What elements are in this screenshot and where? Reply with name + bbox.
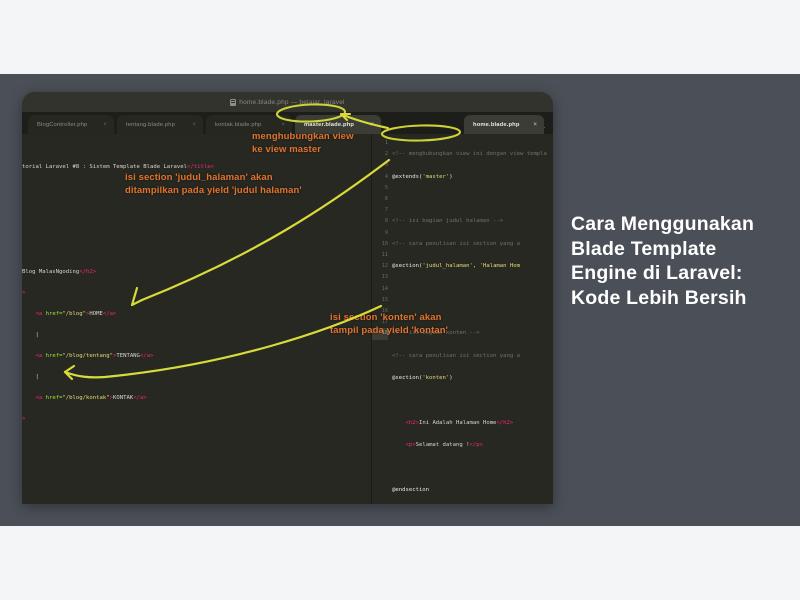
- tab-label: kontak.blade.php: [215, 122, 262, 128]
- code-line: [392, 463, 547, 474]
- code-line: [392, 194, 547, 205]
- code-line: |: [22, 372, 371, 383]
- code-line: [22, 435, 371, 446]
- code-line: <a href="/blog/tentang">TENTANG</a>: [22, 351, 371, 362]
- tab-blogcontroller[interactable]: BlogController.php ×: [28, 115, 114, 134]
- close-icon[interactable]: ×: [533, 122, 537, 128]
- code-line: [22, 246, 371, 257]
- annotation-judul-halaman: isi section 'judul_halaman' akan ditampi…: [125, 171, 302, 197]
- line-number: 4: [372, 172, 388, 183]
- code-line: [22, 204, 371, 215]
- line-number: 7: [372, 205, 388, 216]
- code-line: <a href="/blog/kontak">KONTAK</a>: [22, 393, 371, 404]
- code-line: >: [22, 288, 371, 299]
- code-line: @section('judul_halaman', 'Halaman Hom: [392, 261, 547, 272]
- code-line: Blog MalasNgoding</h2>: [22, 267, 371, 278]
- code-line: <!-- isi bagian judul halaman -->: [392, 216, 547, 227]
- tab-label: BlogController.php: [37, 122, 87, 128]
- close-icon[interactable]: ×: [103, 122, 107, 128]
- line-number: 3: [372, 160, 388, 171]
- editor-titlebar: home.blade.php — belajar_laravel: [22, 92, 553, 112]
- code-line: @extends('master'): [392, 172, 547, 183]
- close-icon[interactable]: ×: [281, 122, 285, 128]
- line-number: 15: [372, 295, 388, 306]
- code-line: [22, 456, 371, 467]
- code-line: <!-- cara penulisan isi section yang a: [392, 239, 547, 250]
- tab-label: tentang.blade.php: [126, 122, 175, 128]
- annotation-konten: isi section 'konten' akan tampil pada yi…: [330, 311, 448, 337]
- code-line: |: [22, 330, 371, 341]
- code-line: [392, 396, 547, 407]
- code-line: @section('konten'): [392, 373, 547, 384]
- code-line: [22, 498, 371, 505]
- code-line: <a href="/blog">HOME</a>: [22, 309, 371, 320]
- line-number: 2: [372, 149, 388, 160]
- code-line: [392, 284, 547, 295]
- file-icon: [230, 99, 236, 106]
- page-title: Cara Menggunakan Blade Template Engine d…: [571, 212, 771, 310]
- editor-window-title: home.blade.php — belajar_laravel: [239, 99, 344, 106]
- line-number: 6: [372, 194, 388, 205]
- screenshot-root: home.blade.php — belajar_laravel BlogCon…: [0, 0, 800, 600]
- code-line: <p>Selamat datang !</p>: [392, 440, 547, 451]
- line-number: 1: [372, 138, 388, 149]
- line-number: 14: [372, 284, 388, 295]
- tab-tentang-blade[interactable]: tentang.blade.php ×: [117, 115, 203, 134]
- code-line: <!-- cara penulisan isi section yang a: [392, 351, 547, 362]
- tab-label: home.blade.php: [473, 122, 520, 128]
- code-line: [22, 477, 371, 488]
- code-line: >: [22, 414, 371, 425]
- line-number: 9: [372, 228, 388, 239]
- line-number: 10: [372, 239, 388, 250]
- tab-home-blade[interactable]: home.blade.php ×: [464, 115, 544, 134]
- line-number: 12: [372, 261, 388, 272]
- line-number: 13: [372, 272, 388, 283]
- code-line: <h2>Ini Adalah Halaman Home</h2>: [392, 418, 547, 429]
- close-icon[interactable]: ×: [370, 122, 374, 128]
- close-icon[interactable]: ×: [192, 122, 196, 128]
- line-number: 5: [372, 183, 388, 194]
- line-number: 8: [372, 216, 388, 227]
- annotation-extends: menghubungkan view ke view master: [252, 130, 354, 156]
- code-line: <!-- menghubungkan view ini dengan view …: [392, 149, 547, 160]
- code-line: [22, 225, 371, 236]
- line-number: 11: [372, 250, 388, 261]
- code-line: @endsection: [392, 485, 547, 496]
- tab-label: master.blade.php: [304, 122, 354, 128]
